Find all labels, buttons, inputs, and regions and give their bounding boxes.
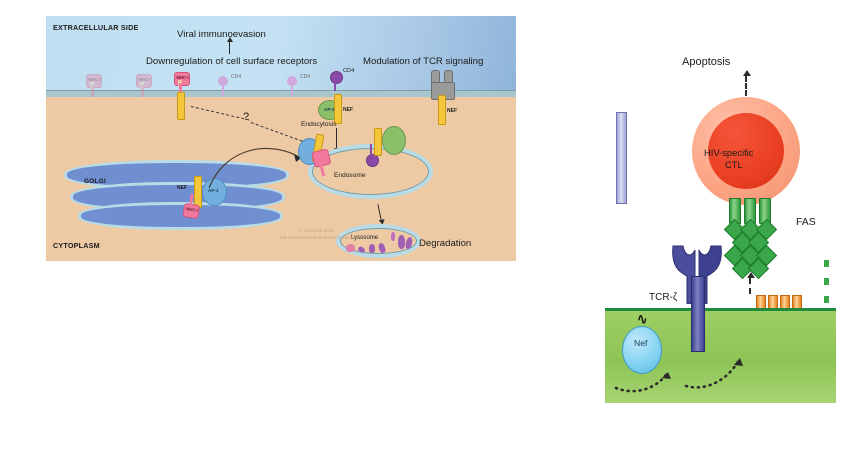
mhc-head-icon: MHC-I <box>174 72 190 86</box>
fas-ectodomain-lattice <box>727 222 773 276</box>
golgi-to-endosome-arrow-icon <box>201 138 311 193</box>
modulation-tcr-subtitle: Modulation of TCR signaling <box>363 56 483 67</box>
edge-fragment-3 <box>824 296 829 303</box>
tcr-zeta-chain <box>616 112 627 204</box>
cd4-label-active: CD4 <box>343 68 354 74</box>
fas-label: FAS <box>796 217 816 228</box>
nef-bar-endosome-right <box>374 128 382 156</box>
cd4-receptor-active <box>330 71 341 95</box>
tcr-stalk-icon <box>691 276 705 352</box>
cd4-label-faded-2: CD4 <box>300 74 310 80</box>
tcr-complex-right <box>669 242 725 350</box>
tcr-receptor <box>431 70 453 98</box>
edge-fragment-1 <box>824 260 829 267</box>
nef-bar-tcr <box>438 95 446 125</box>
cd4-stalk-icon <box>370 144 373 156</box>
mhc-head-icon: MHC-I <box>136 74 152 88</box>
cd4-stalk-icon <box>291 84 294 96</box>
tcr-zeta-label: TCR-ζ <box>649 292 677 303</box>
cd4-stalk-icon <box>334 79 337 91</box>
endocytosis-arrow-icon <box>336 128 337 148</box>
viral-immunoevasion-arrow-icon <box>229 41 230 54</box>
endosome-label: Endosome <box>334 172 366 179</box>
nef-label-golgi: NEF <box>177 185 187 191</box>
nef-receptor-downregulation-diagram: EXTRACELLULAR SIDE CYTOPLASM Viral immun… <box>46 16 516 261</box>
nef-label-cd4: NEF <box>343 107 353 113</box>
mhc-receptor-faded-2: MHC-I <box>136 74 152 99</box>
endocytosis-label: Endocytosis <box>301 121 337 128</box>
degradation-fragment-5 <box>391 232 395 241</box>
mhc-label-golgi: MHC-I <box>186 206 199 213</box>
cropped-edge-fragment <box>824 260 832 312</box>
unknown-pathway-question-mark: ? <box>243 111 249 123</box>
cd4-stalk-icon <box>222 84 225 96</box>
nef-bar-cd4 <box>334 94 342 124</box>
degradation-label: Degradation <box>419 238 471 249</box>
mhc-stem-icon <box>91 85 94 97</box>
ap2-label-membrane: AP-2 <box>324 107 334 112</box>
nef-signaling-dotted-arrows-icon <box>610 348 760 396</box>
ctl-label-line2: CTL <box>725 159 743 170</box>
extracellular-side-label: EXTRACELLULAR SIDE <box>53 23 138 32</box>
degradation-fragment-6 <box>398 235 405 249</box>
degradation-fragment-1 <box>346 244 355 252</box>
degradation-fragment-3 <box>369 244 375 253</box>
ap2-adaptor-endosome <box>382 126 406 155</box>
downregulation-subtitle: Downregulation of cell surface receptors <box>146 56 317 67</box>
nef-fas-fasl-ctl-apoptosis-diagram: Apoptosis HIV-specific CTL FAS FASL <box>596 52 846 404</box>
nef-label-right: Nef <box>634 338 647 348</box>
credit-line-2: SIB Swiss Institute of Bioinformatics <box>256 235 376 242</box>
cd4-receptor-faded-2 <box>287 76 297 98</box>
cd4-label-faded-1: CD4 <box>231 74 241 80</box>
figure-credit: © ViralZone 2014 SIB Swiss Institute of … <box>256 228 376 241</box>
mhc-receptor-golgi: MHC-I <box>182 193 201 219</box>
apoptosis-label: Apoptosis <box>682 56 730 68</box>
mhc-head-icon: MHC-I <box>86 74 102 88</box>
fasl-to-fas-arrow-icon <box>749 278 751 294</box>
nef-label-tcr: NEF <box>447 108 457 114</box>
cd4-receptor-faded-1 <box>218 76 228 98</box>
cd4-head-icon <box>330 71 343 84</box>
credit-line-1: © ViralZone 2014 <box>256 228 376 235</box>
mhc-stem-icon <box>141 85 144 97</box>
viral-immunoevasion-title: Viral immunoevasion <box>177 29 266 40</box>
mhc-receptor-faded-1: MHC-I <box>86 74 102 99</box>
apoptosis-arrow-icon <box>745 76 747 96</box>
ctl-label-line1: HIV-specific <box>704 147 754 158</box>
golgi-cisterna-3 <box>78 202 283 230</box>
nef-bar-mhc <box>177 92 185 120</box>
golgi-label: GOLGI <box>84 178 106 185</box>
edge-fragment-2 <box>824 278 829 285</box>
